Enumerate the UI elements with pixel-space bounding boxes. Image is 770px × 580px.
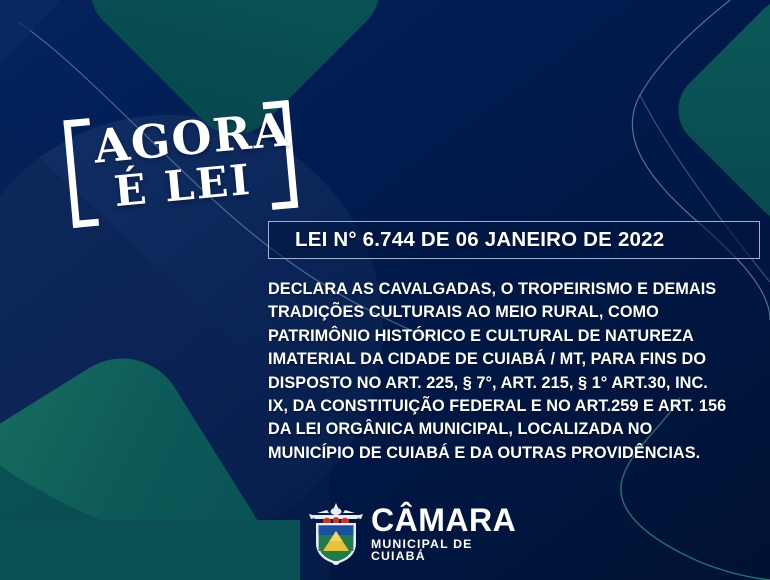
law-title-text: LEI N° 6.744 DE 06 JANEIRO DE 2022: [269, 228, 664, 252]
law-body-line: TRADIÇÕES CULTURAIS AO MEIO RURAL, COMO: [268, 301, 764, 324]
logo-subtitle: MUNICIPAL DE CUIABÁ: [371, 538, 516, 563]
law-body-line: IX, DA CONSTITUIÇÃO FEDERAL E NO ART.259…: [268, 395, 764, 418]
law-body-line: DA LEI ORGÂNICA MUNICIPAL, LOCALIZADA NO: [268, 418, 764, 441]
law-body-line: DISPOSTO NO ART. 225, § 7°, ART. 215, § …: [268, 372, 764, 395]
logo-title: CÂMARA: [371, 504, 516, 536]
law-body-line: DECLARA AS CAVALGADAS, O TROPEIRISMO E D…: [268, 278, 764, 301]
logo-wordmark: CÂMARA MUNICIPAL DE CUIABÁ: [371, 504, 516, 563]
cuiaba-coat-of-arms-icon: [305, 501, 367, 565]
poster-canvas: AGORA É LEI LEI N° 6.744 DE 06 JANEIRO D…: [0, 0, 770, 580]
law-body-line: IMATERIAL DA CIDADE DE CUIABÁ / MT, PARA…: [268, 348, 764, 371]
law-body-line: PATRIMÔNIO HISTÓRICO E CULTURAL DE NATUR…: [268, 325, 764, 348]
law-body-line: MUNICÍPIO DE CUIABÁ E DA OUTRAS PROVIDÊN…: [268, 442, 764, 465]
agora-e-lei-badge: AGORA É LEI: [61, 100, 300, 232]
agora-e-lei-text: AGORA É LEI: [92, 107, 270, 216]
camara-municipal-logo: CÂMARA MUNICIPAL DE CUIABÁ: [305, 500, 495, 566]
law-title-box: LEI N° 6.744 DE 06 JANEIRO DE 2022: [268, 221, 760, 259]
law-body-paragraph: DECLARA AS CAVALGADAS, O TROPEIRISMO E D…: [268, 278, 764, 465]
